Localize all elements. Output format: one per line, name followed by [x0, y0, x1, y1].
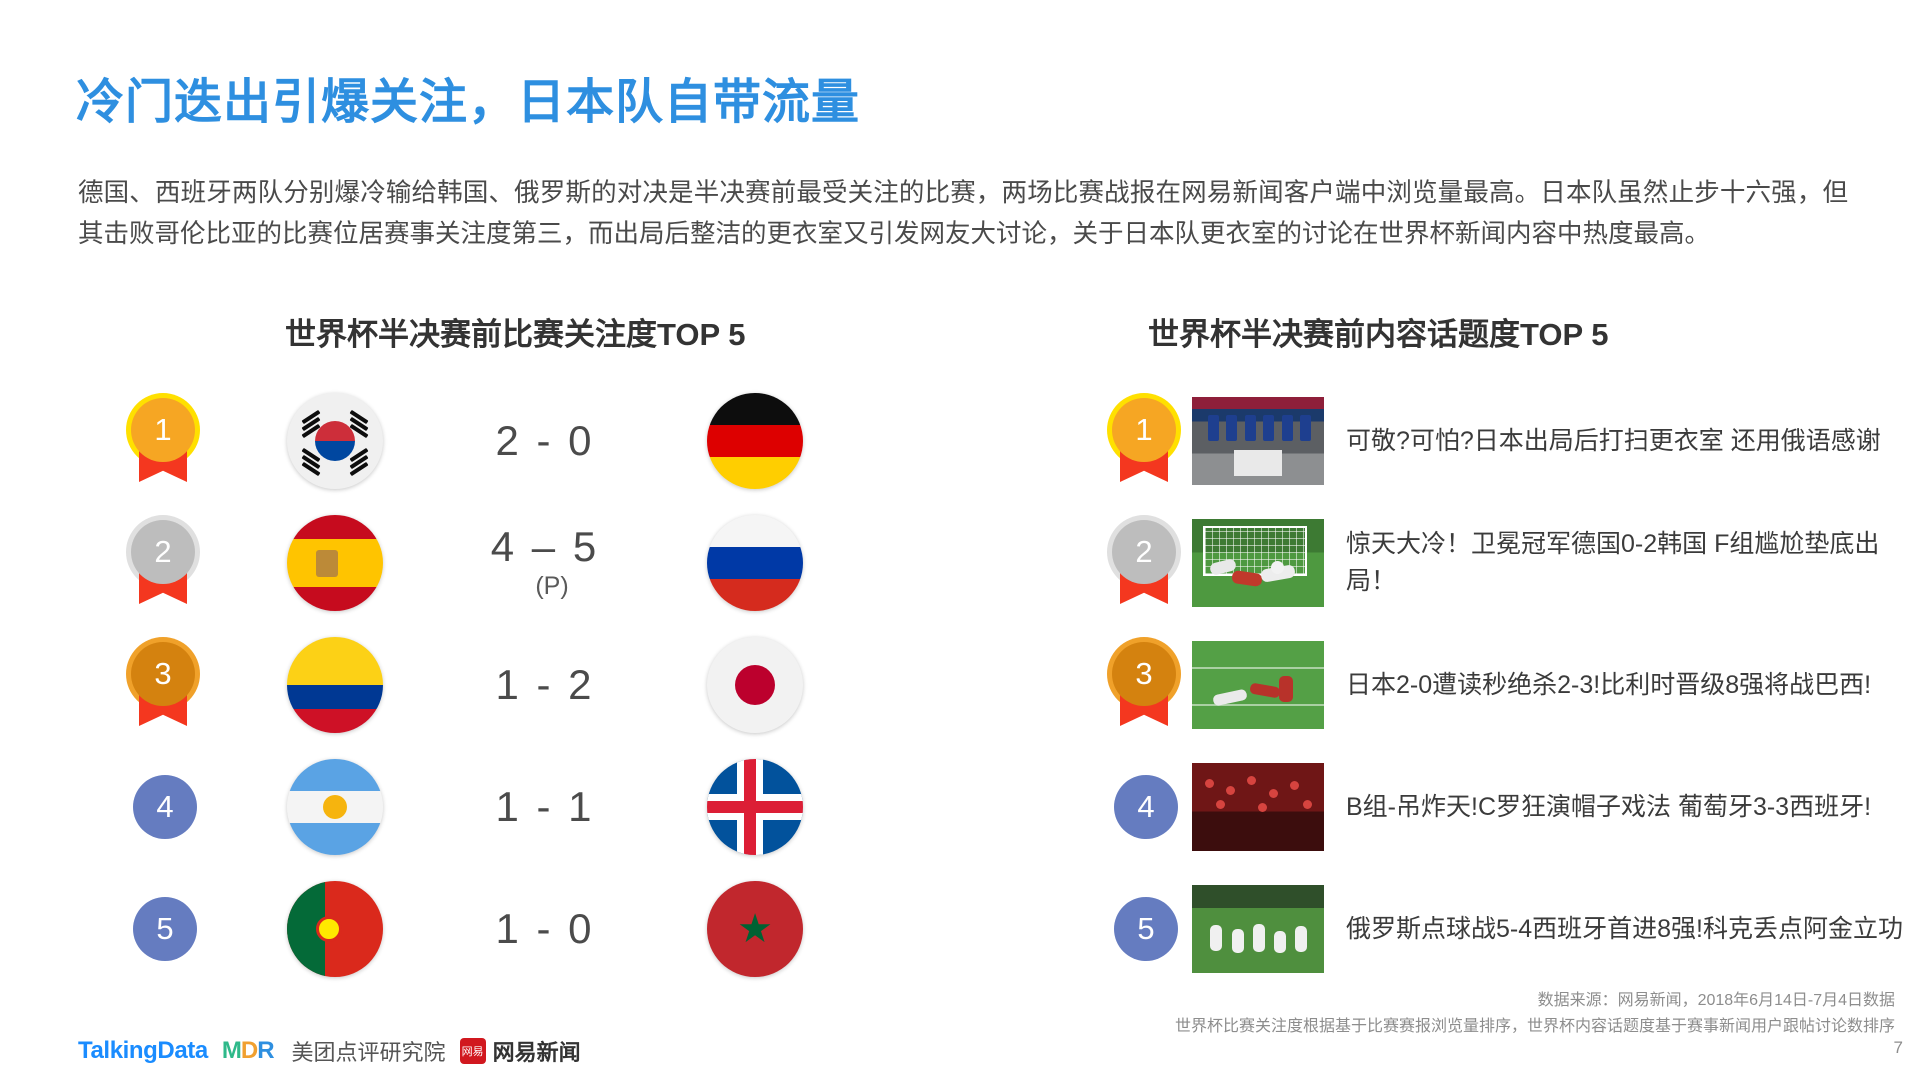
rank-badge-4: 4 — [133, 775, 197, 839]
away-flag-cell — [660, 759, 850, 855]
medal-silver-icon: 2 — [1112, 520, 1180, 606]
topic-title: 日本2-0遭读秒绝杀2-3!比利时晋级8强将战巴西! — [1346, 667, 1910, 704]
rank-cell: 2 — [1100, 520, 1192, 606]
rank-cell: 3 — [90, 642, 240, 728]
section-heading-matches: 世界杯半决赛前比赛关注度TOP 5 — [285, 309, 745, 354]
netease-logo-text: 网易新闻 — [493, 1035, 581, 1067]
netease-news-logo: 网易 网易新闻 — [460, 1035, 581, 1067]
topic-popularity-list: 1 可敬?可怕?日本出局后打扫更衣室 还用俄语感谢 2 — [1100, 380, 1910, 990]
table-row: 4 1 - 1 — [90, 746, 950, 868]
medal-gold-icon: 1 — [131, 398, 199, 484]
rank-cell: 3 — [1100, 642, 1192, 728]
rank-label: 4 — [1137, 789, 1154, 825]
rank-badge-5: 5 — [133, 897, 197, 961]
medal-gold-icon: 1 — [1112, 398, 1180, 484]
score-label: 1 - 0 — [495, 907, 594, 951]
mdr-logo-text: 美团点评研究院 — [292, 1035, 446, 1067]
flag-japan-icon — [707, 637, 803, 733]
rank-badge-4: 4 — [1114, 775, 1178, 839]
flag-russia-icon — [707, 515, 803, 611]
medal-bronze-icon: 3 — [131, 642, 199, 728]
rank-cell: 2 — [90, 520, 240, 606]
mdr-logo-d: D — [241, 1037, 257, 1064]
mdr-logo-m: M — [222, 1037, 241, 1064]
rank-cell: 5 — [90, 897, 240, 961]
netease-badge-icon: 网易 — [460, 1038, 486, 1064]
slide-root: 冷门迭出引爆关注，日本队自带流量 德国、西班牙两队分别爆冷输给韩国、俄罗斯的对决… — [0, 0, 1921, 1080]
score-label: 1 - 2 — [495, 663, 594, 707]
flag-portugal-icon — [287, 881, 383, 977]
flag-colombia-icon — [287, 637, 383, 733]
score-note: (P) — [535, 572, 568, 601]
list-item[interactable]: 4 B组-吊炸天!C罗狂演帽子戏法 葡萄牙3-3西班牙! — [1100, 746, 1910, 868]
topic-thumbnail-image — [1192, 763, 1324, 851]
medal-bronze-icon: 3 — [1112, 642, 1180, 728]
match-attention-list: 1 — [90, 380, 950, 990]
topic-thumbnail-image — [1192, 641, 1324, 729]
score-label: 1 - 1 — [495, 785, 594, 829]
rank-label: 3 — [1112, 642, 1176, 706]
page-number: 7 — [1894, 1038, 1903, 1058]
table-row: 1 — [90, 380, 950, 502]
away-flag-cell: ★ — [660, 881, 850, 977]
list-item[interactable]: 1 可敬?可怕?日本出局后打扫更衣室 还用俄语感谢 — [1100, 380, 1910, 502]
source-note: 数据来源：网易新闻，2018年6月14日-7月4日数据 世界杯比赛关注度根据基于… — [1175, 988, 1895, 1040]
talkingdata-logo: TalkingData — [78, 1037, 208, 1065]
page-title: 冷门迭出引爆关注，日本队自带流量 — [76, 62, 860, 132]
source-line-2: 世界杯比赛关注度根据基于比赛赛报浏览量排序，世界杯内容话题度基于赛事新闻用户跟帖… — [1175, 1014, 1895, 1040]
flag-morocco-icon: ★ — [707, 881, 803, 977]
rank-cell: 1 — [1100, 398, 1192, 484]
rank-label: 3 — [131, 642, 195, 706]
topic-thumbnail-image — [1192, 885, 1324, 973]
score-cell: 2 - 0 — [430, 419, 660, 463]
flag-korea-icon — [287, 393, 383, 489]
rank-cell: 5 — [1100, 897, 1192, 961]
table-row: 2 4 – 5 (P) — [90, 502, 950, 624]
list-item[interactable]: 5 俄罗斯点球战5-4西班牙首进8强!科克丢点阿金立功 — [1100, 868, 1910, 990]
topic-thumbnail-image — [1192, 519, 1324, 607]
medal-silver-icon: 2 — [131, 520, 199, 606]
topic-title: B组-吊炸天!C罗狂演帽子戏法 葡萄牙3-3西班牙! — [1346, 789, 1910, 826]
rank-label: 4 — [156, 789, 173, 825]
table-row: 3 1 - 2 — [90, 624, 950, 746]
rank-label: 1 — [1112, 398, 1176, 462]
rank-label: 2 — [1112, 520, 1176, 584]
home-flag-cell — [240, 881, 430, 977]
score-cell: 1 - 1 — [430, 785, 660, 829]
away-flag-cell — [660, 515, 850, 611]
score-label: 4 – 5 — [491, 525, 599, 569]
mdr-logo-r: R — [257, 1037, 273, 1064]
rank-cell: 1 — [90, 398, 240, 484]
flag-iceland-icon — [707, 759, 803, 855]
rank-cell: 4 — [90, 775, 240, 839]
rank-label: 5 — [1137, 911, 1154, 947]
rank-badge-5: 5 — [1114, 897, 1178, 961]
list-item[interactable]: 2 惊天大冷！卫冕冠军德国0-2韩国 F组尴尬垫底出局！ — [1100, 502, 1910, 624]
score-label: 2 - 0 — [495, 419, 594, 463]
score-cell: 1 - 2 — [430, 663, 660, 707]
flag-germany-icon — [707, 393, 803, 489]
topic-title: 俄罗斯点球战5-4西班牙首进8强!科克丢点阿金立功 — [1346, 911, 1910, 948]
home-flag-cell — [240, 637, 430, 733]
topic-thumbnail-image — [1192, 397, 1324, 485]
source-line-1: 数据来源：网易新闻，2018年6月14日-7月4日数据 — [1175, 988, 1895, 1014]
rank-cell: 4 — [1100, 775, 1192, 839]
rank-label: 2 — [131, 520, 195, 584]
score-cell: 4 – 5 (P) — [430, 525, 660, 600]
page-subtitle: 德国、西班牙两队分别爆冷输给韩国、俄罗斯的对决是半决赛前最受关注的比赛，两场比赛… — [78, 173, 1848, 255]
rank-label: 5 — [156, 911, 173, 947]
topic-title: 可敬?可怕?日本出局后打扫更衣室 还用俄语感谢 — [1346, 423, 1910, 460]
rank-label: 1 — [131, 398, 195, 462]
away-flag-cell — [660, 637, 850, 733]
list-item[interactable]: 3 日本2-0遭读秒绝杀2-3!比利时晋级8强将战巴西! — [1100, 624, 1910, 746]
table-row: 5 1 - 0 ★ — [90, 868, 950, 990]
flag-spain-icon — [287, 515, 383, 611]
away-flag-cell — [660, 393, 850, 489]
section-heading-topics: 世界杯半决赛前内容话题度TOP 5 — [1148, 309, 1608, 354]
mdr-logo: MDR — [222, 1037, 274, 1065]
score-cell: 1 - 0 — [430, 907, 660, 951]
topic-title: 惊天大冷！卫冕冠军德国0-2韩国 F组尴尬垫底出局！ — [1346, 526, 1910, 600]
footer-logos: TalkingData MDR 美团点评研究院 网易 网易新闻 — [78, 1035, 581, 1067]
home-flag-cell — [240, 515, 430, 611]
flag-argentina-icon — [287, 759, 383, 855]
home-flag-cell — [240, 759, 430, 855]
home-flag-cell — [240, 393, 430, 489]
